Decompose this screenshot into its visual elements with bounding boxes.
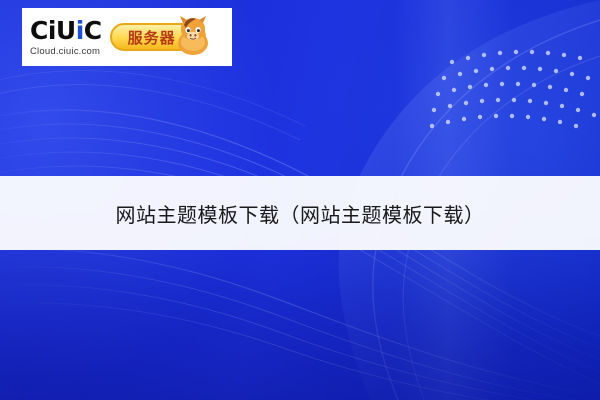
logo-wordmark-i: i [76,18,84,43]
logo-wordmark: CiUiC [30,18,102,43]
horse-mascot-icon [172,13,216,57]
page-title: 网站主题模板下载（网站主题模板下载） [116,199,485,228]
title-band: 网站主题模板下载（网站主题模板下载） [0,176,600,250]
logo-wordmark-c: C [84,18,102,43]
banner-image: CiUiC Cloud.ciuic.com 服务器 [0,0,600,400]
logo-domain: Cloud.ciuic.com [30,47,102,57]
logo-text: CiUiC Cloud.ciuic.com [30,18,102,57]
logo: CiUiC Cloud.ciuic.com 服务器 [22,8,232,66]
logo-badge: 服务器 [110,14,214,60]
logo-wordmark-ci: CiU [30,18,76,43]
